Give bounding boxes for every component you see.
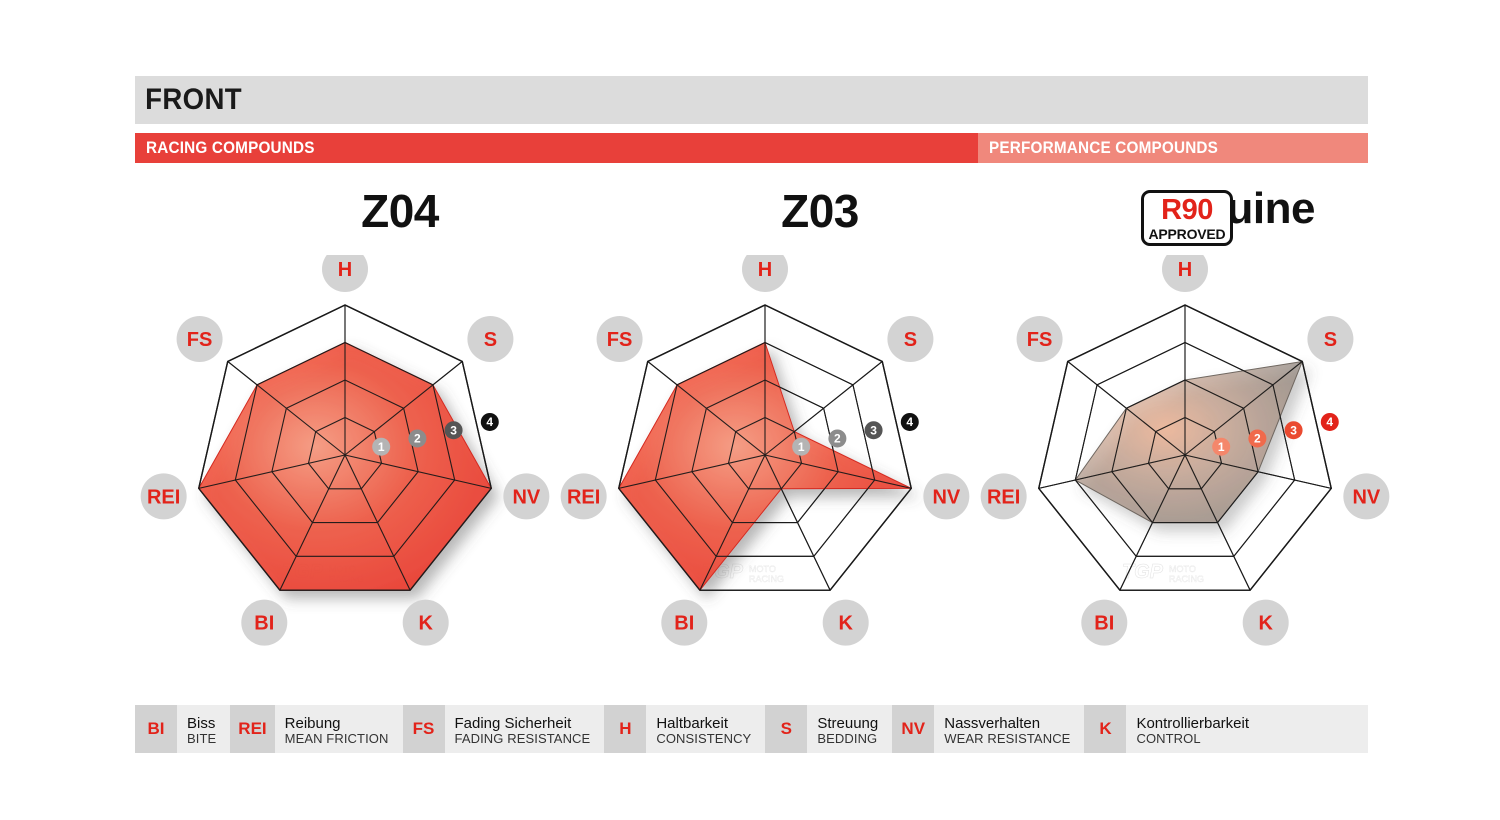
svg-text:S: S xyxy=(904,329,917,351)
legend-abbr: NV xyxy=(892,705,934,753)
svg-text:FS: FS xyxy=(607,329,633,351)
axis-label-k: K xyxy=(823,600,869,646)
performance-compounds-segment: PERFORMANCE COMPOUNDS xyxy=(978,133,1368,163)
axis-label-rei: REI xyxy=(141,473,187,519)
svg-text:1: 1 xyxy=(1218,440,1225,454)
axis-label-nv: NV xyxy=(503,473,549,519)
axis-label-s: S xyxy=(1307,316,1353,362)
compound-title-z04: Z04 xyxy=(195,184,605,238)
radar-svg: TGPMOTORACING1234HSNVKBIREIFS xyxy=(975,255,1395,665)
radar-grid-overlay xyxy=(619,305,911,590)
legend-text: ReibungMEAN FRICTION xyxy=(275,705,403,753)
legend-abbr: FS xyxy=(403,705,445,753)
svg-text:3: 3 xyxy=(870,423,877,437)
axis-label-rei: REI xyxy=(561,473,607,519)
r90-approved-badge: R90 APPROVED xyxy=(1141,190,1233,246)
svg-text:4: 4 xyxy=(1326,415,1333,429)
legend-text: Fading SicherheitFADING RESISTANCE xyxy=(445,705,605,753)
svg-text:H: H xyxy=(1178,259,1192,281)
svg-text:RACING: RACING xyxy=(1169,574,1204,584)
svg-text:K: K xyxy=(418,613,433,635)
axis-label-k: K xyxy=(1243,600,1289,646)
legend-abbr: H xyxy=(604,705,646,753)
radar-svg: TGPMOTORACING1234HSNVKBIREIFS xyxy=(135,255,555,665)
svg-text:BI: BI xyxy=(674,613,694,635)
svg-text:NV: NV xyxy=(932,486,960,508)
axis-label-fs: FS xyxy=(177,316,223,362)
svg-text:MOTO: MOTO xyxy=(749,564,776,574)
svg-text:4: 4 xyxy=(486,415,493,429)
legend-item-bi: BIBissBITE xyxy=(135,705,230,753)
axis-label-h: H xyxy=(322,255,368,292)
axis-label-k: K xyxy=(403,600,449,646)
legend-term-de: Reibung xyxy=(285,716,389,733)
legend-abbr: S xyxy=(765,705,807,753)
legend-term-en: FADING RESISTANCE xyxy=(455,732,591,747)
svg-text:RACING: RACING xyxy=(749,574,784,584)
r90-badge-subtitle: APPROVED xyxy=(1149,227,1226,241)
axis-label-bi: BI xyxy=(661,600,707,646)
legend-item-fs: FSFading SicherheitFADING RESISTANCE xyxy=(403,705,605,753)
legend-term-en: BITE xyxy=(187,732,216,747)
legend-item-h: HHaltbarkeitCONSISTENCY xyxy=(604,705,765,753)
svg-text:1: 1 xyxy=(378,440,385,454)
svg-text:2: 2 xyxy=(1254,432,1261,446)
legend-abbr: REI xyxy=(230,705,274,753)
svg-text:S: S xyxy=(1324,329,1337,351)
legend-term-de: Nassverhalten xyxy=(944,716,1070,733)
axis-label-h: H xyxy=(742,255,788,292)
svg-text:H: H xyxy=(338,259,352,281)
compound-title-z03: Z03 xyxy=(615,184,1025,238)
compound-category-bar: RACING COMPOUNDS PERFORMANCE COMPOUNDS xyxy=(135,133,1368,163)
legend-item-s: SStreuungBEDDING xyxy=(765,705,892,753)
axis-label-bi: BI xyxy=(1081,600,1127,646)
svg-text:FS: FS xyxy=(1027,329,1053,351)
svg-text:K: K xyxy=(1258,613,1273,635)
svg-text:BI: BI xyxy=(1094,613,1114,635)
svg-text:S: S xyxy=(484,329,497,351)
svg-text:BI: BI xyxy=(254,613,274,635)
legend-item-rei: REIReibungMEAN FRICTION xyxy=(230,705,402,753)
svg-text:2: 2 xyxy=(414,432,421,446)
radar-svg: TGPMOTORACING1234HSNVKBIREIFS xyxy=(555,255,975,665)
legend-term-en: CONTROL xyxy=(1136,732,1249,747)
legend-item-nv: NVNassverhaltenWEAR RESISTANCE xyxy=(892,705,1084,753)
radar-chart-z03: TGPMOTORACING1234HSNVKBIREIFS xyxy=(555,255,975,665)
axis-label-s: S xyxy=(467,316,513,362)
svg-text:3: 3 xyxy=(450,423,457,437)
axis-label-s: S xyxy=(887,316,933,362)
radar-series-polygon xyxy=(1075,361,1302,522)
legend-term-de: Streuung xyxy=(817,716,878,733)
svg-text:1: 1 xyxy=(798,440,805,454)
axis-label-fs: FS xyxy=(1017,316,1063,362)
svg-text:REI: REI xyxy=(147,486,180,508)
legend-filler xyxy=(1263,705,1368,753)
legend-abbr: BI xyxy=(135,705,177,753)
svg-text:FS: FS xyxy=(187,329,213,351)
r90-badge-title: R90 xyxy=(1161,196,1213,225)
legend-text: StreuungBEDDING xyxy=(807,705,892,753)
axis-label-nv: NV xyxy=(1343,473,1389,519)
legend-abbr: K xyxy=(1084,705,1126,753)
svg-text:3: 3 xyxy=(1290,423,1297,437)
axis-label-nv: NV xyxy=(923,473,969,519)
svg-text:NV: NV xyxy=(1352,486,1380,508)
legend-text: HaltbarkeitCONSISTENCY xyxy=(646,705,765,753)
legend-text: NassverhaltenWEAR RESISTANCE xyxy=(934,705,1084,753)
page-title: FRONT xyxy=(135,83,242,117)
legend-term-de: Haltbarkeit xyxy=(656,716,751,733)
legend-term-de: Kontrollierbarkeit xyxy=(1136,716,1249,733)
legend-term-en: CONSISTENCY xyxy=(656,732,751,747)
poster-root: FRONT RACING COMPOUNDS PERFORMANCE COMPO… xyxy=(0,0,1500,820)
radar-grid-overlay xyxy=(1039,305,1331,590)
radar-charts-row: TGPMOTORACING1234HSNVKBIREIFS TGPMOTORAC… xyxy=(0,255,1500,665)
tgp-watermark: TGPMOTORACING xyxy=(1122,561,1204,584)
legend-bar: BIBissBITEREIReibungMEAN FRICTIONFSFadin… xyxy=(135,705,1368,753)
legend-term-de: Fading Sicherheit xyxy=(455,716,591,733)
svg-text:MOTO: MOTO xyxy=(1169,564,1196,574)
performance-compounds-label: PERFORMANCE COMPOUNDS xyxy=(989,138,1218,158)
legend-term-en: MEAN FRICTION xyxy=(285,732,389,747)
racing-compounds-segment: RACING COMPOUNDS xyxy=(135,133,978,163)
axis-label-rei: REI xyxy=(981,473,1027,519)
legend-text: KontrollierbarkeitCONTROL xyxy=(1126,705,1263,753)
svg-text:4: 4 xyxy=(906,415,913,429)
legend-term-en: WEAR RESISTANCE xyxy=(944,732,1070,747)
axis-label-bi: BI xyxy=(241,600,287,646)
svg-text:REI: REI xyxy=(567,486,600,508)
racing-compounds-label: RACING COMPOUNDS xyxy=(146,138,315,158)
legend-item-k: KKontrollierbarkeitCONTROL xyxy=(1084,705,1263,753)
svg-text:REI: REI xyxy=(987,486,1020,508)
axis-label-fs: FS xyxy=(597,316,643,362)
svg-text:NV: NV xyxy=(512,486,540,508)
legend-term-de: Biss xyxy=(187,716,216,733)
svg-text:K: K xyxy=(838,613,853,635)
section-title-bar: FRONT xyxy=(135,76,1368,124)
axis-label-h: H xyxy=(1162,255,1208,292)
radar-chart-genuine: TGPMOTORACING1234HSNVKBIREIFS xyxy=(975,255,1395,665)
svg-text:H: H xyxy=(758,259,772,281)
legend-term-en: BEDDING xyxy=(817,732,878,747)
svg-text:2: 2 xyxy=(834,432,841,446)
legend-text: BissBITE xyxy=(177,705,230,753)
radar-chart-z04: TGPMOTORACING1234HSNVKBIREIFS xyxy=(135,255,555,665)
